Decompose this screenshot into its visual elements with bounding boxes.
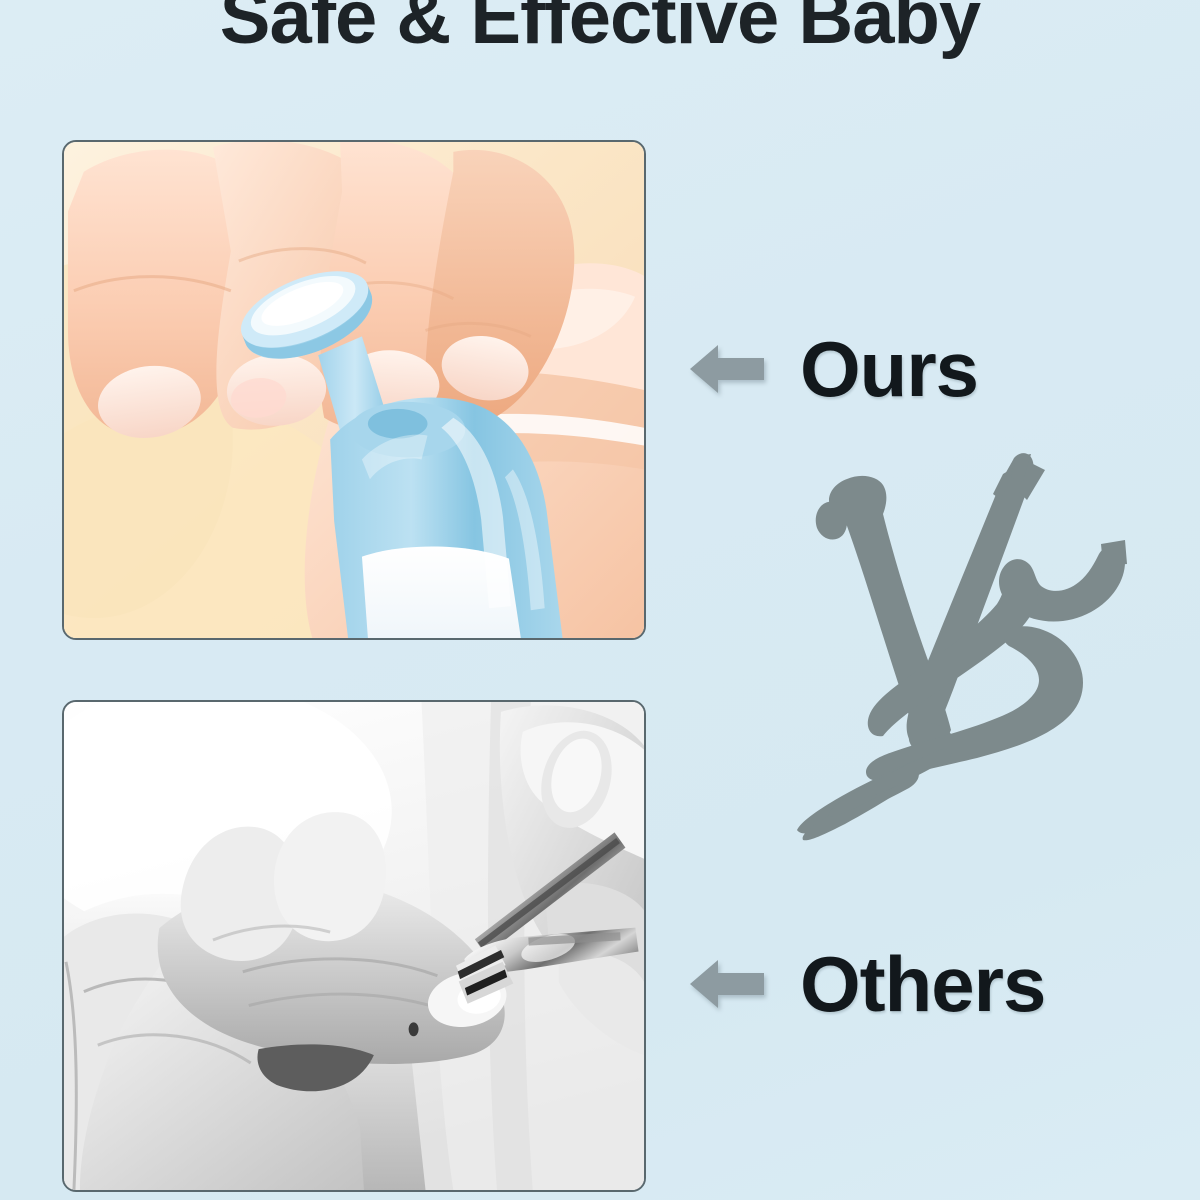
ours-label: Ours — [800, 330, 978, 408]
arrow-left-icon — [690, 956, 764, 1012]
others-label: Others — [800, 945, 1045, 1023]
ours-callout: Ours — [690, 330, 978, 408]
metal-nail-clipper-photo — [64, 702, 644, 1190]
arrow-left-icon — [690, 341, 764, 397]
page-title: Safe & Effective Baby — [0, 0, 1200, 56]
baby-electric-nail-trimmer-photo — [64, 142, 644, 638]
others-callout: Others — [690, 945, 1045, 1023]
product-comparison-poster: Safe & Effective Baby — [0, 0, 1200, 1200]
ours-photo-frame — [62, 140, 646, 640]
others-photo-frame — [62, 700, 646, 1192]
versus-mark — [795, 452, 1130, 897]
